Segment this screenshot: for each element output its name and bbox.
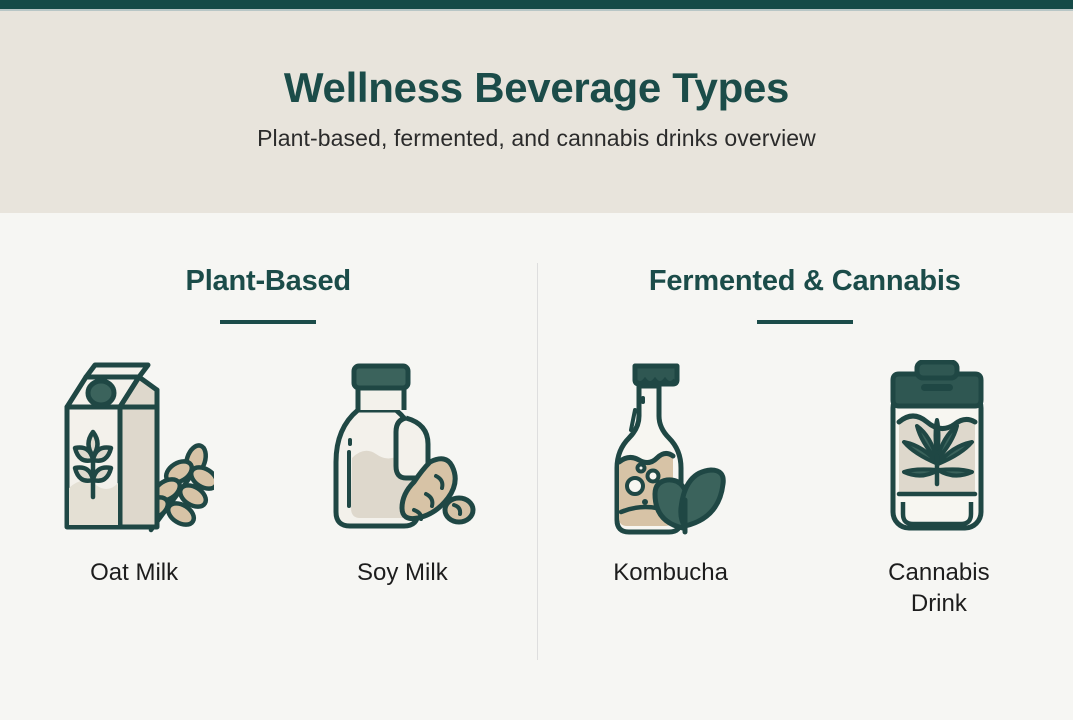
column-heading-fermented-cannabis: Fermented & Cannabis	[649, 266, 961, 298]
columns-container: Plant-Based	[0, 213, 1073, 720]
item-soy-milk[interactable]: Soy Milk	[268, 360, 536, 588]
item-cannabis-drink[interactable]: Cannabis Drink	[805, 360, 1073, 619]
infographic-page: Wellness Beverage Types Plant-based, fer…	[0, 0, 1073, 720]
item-kombucha[interactable]: Kombucha	[537, 360, 805, 619]
item-label-oat-milk: Oat Milk	[90, 557, 178, 588]
column-rule-fermented-cannabis	[757, 320, 853, 324]
column-fermented-cannabis: Fermented & Cannabis	[537, 213, 1073, 720]
page-subtitle: Plant-based, fermented, and cannabis dri…	[257, 125, 816, 153]
item-label-kombucha: Kombucha	[613, 557, 728, 588]
top-accent-bar	[0, 0, 1073, 9]
content-area: Plant-Based	[0, 213, 1073, 720]
milk-carton-icon	[54, 360, 214, 535]
milk-jug-icon	[322, 360, 482, 535]
kombucha-bottle-icon	[591, 360, 751, 535]
cannabis-bottle-icon	[859, 360, 1019, 535]
column-plant-based: Plant-Based	[0, 213, 537, 720]
column-heading-plant-based: Plant-Based	[186, 266, 351, 298]
page-title: Wellness Beverage Types	[284, 65, 789, 111]
items-plant-based: Oat Milk	[0, 360, 537, 588]
items-fermented-cannabis: Kombucha	[537, 360, 1073, 619]
column-rule-plant-based	[220, 320, 316, 324]
item-oat-milk[interactable]: Oat Milk	[0, 360, 268, 588]
item-label-cannabis-drink: Cannabis Drink	[874, 557, 1004, 619]
header-band: Wellness Beverage Types Plant-based, fer…	[0, 11, 1073, 213]
item-label-soy-milk: Soy Milk	[357, 557, 448, 588]
